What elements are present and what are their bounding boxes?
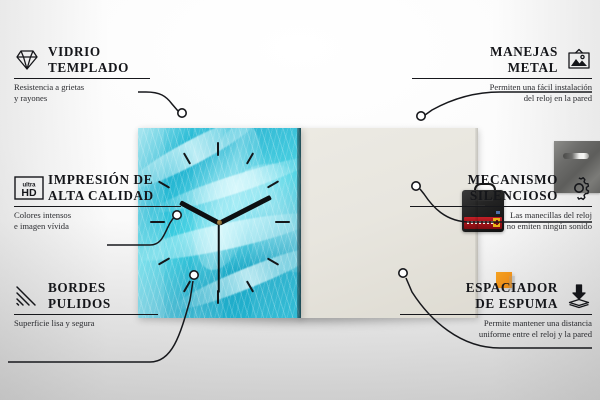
- callout-rule: [14, 314, 158, 315]
- connector-dot-manejas: [417, 112, 425, 120]
- callout-mecanismo-silencioso[interactable]: MECANISMO SILENCIOSO Las manecillas del …: [410, 172, 592, 232]
- svg-text:HD: HD: [21, 187, 37, 199]
- callout-heading: BORDES PULIDOS: [14, 280, 158, 311]
- callout-title: VIDRIO TEMPLADO: [48, 44, 129, 75]
- glass-edge: [297, 128, 301, 318]
- callout-title: MANEJAS METAL: [490, 44, 558, 75]
- callout-heading: VIDRIO TEMPLADO: [14, 44, 150, 75]
- hanger-slot: [563, 153, 589, 159]
- clock-tick: [267, 257, 279, 265]
- callout-rule: [410, 206, 592, 207]
- arrow-down-layers-icon: [566, 283, 592, 309]
- callout-title: BORDES PULIDOS: [48, 280, 111, 311]
- callout-heading: MECANISMO SILENCIOSO: [410, 172, 592, 203]
- picture-frame-hanger-icon: [566, 47, 592, 73]
- callout-vidrio-templado[interactable]: VIDRIO TEMPLADO Resistencia a grietas y …: [14, 44, 150, 104]
- clock-tick: [275, 221, 290, 223]
- clock-tick: [246, 152, 254, 164]
- callout-espaciador-espuma[interactable]: ESPACIADOR DE ESPUMA Permite mantener un…: [400, 280, 592, 340]
- callout-bordes-pulidos[interactable]: BORDES PULIDOS Superficie lisa y segura: [14, 280, 158, 329]
- clock-minute-hand: [218, 195, 272, 225]
- clock-second-hand: [218, 223, 220, 293]
- callout-title: IMPRESIÓN DE ALTA CALIDAD: [48, 172, 154, 203]
- callout-rule: [412, 78, 592, 79]
- clock-center-pin: [217, 220, 222, 225]
- clock-tick: [158, 257, 170, 265]
- callout-heading: MANEJAS METAL: [412, 44, 592, 75]
- clock-hour-hand: [179, 201, 220, 226]
- callout-title: MECANISMO SILENCIOSO: [468, 172, 558, 203]
- clock-tick: [217, 142, 219, 156]
- callout-manejas-metal[interactable]: MANEJAS METAL Permiten una fácil instala…: [412, 44, 592, 104]
- clock-tick: [267, 180, 279, 188]
- ultra-hd-icon: ultra HD: [14, 175, 40, 201]
- diamond-icon: [14, 47, 40, 73]
- polished-edges-icon: [14, 283, 40, 309]
- callout-title: ESPACIADOR DE ESPUMA: [466, 280, 558, 311]
- callout-rule: [400, 314, 592, 315]
- infographic-canvas: VIDRIO TEMPLADO Resistencia a grietas y …: [0, 0, 600, 400]
- callout-heading: ultra HD IMPRESIÓN DE ALTA CALIDAD: [14, 172, 181, 203]
- clock-tick: [183, 280, 191, 292]
- connector-dot-vidrio-templado: [178, 109, 186, 117]
- clock-tick: [246, 280, 254, 292]
- gear-icon: [566, 175, 592, 201]
- callout-heading: ESPACIADOR DE ESPUMA: [400, 280, 592, 311]
- callout-impresion-alta-calidad[interactable]: ultra HD IMPRESIÓN DE ALTA CALIDAD Color…: [14, 172, 181, 232]
- clock-tick: [183, 152, 191, 164]
- callout-rule: [14, 206, 181, 207]
- callout-rule: [14, 78, 150, 79]
